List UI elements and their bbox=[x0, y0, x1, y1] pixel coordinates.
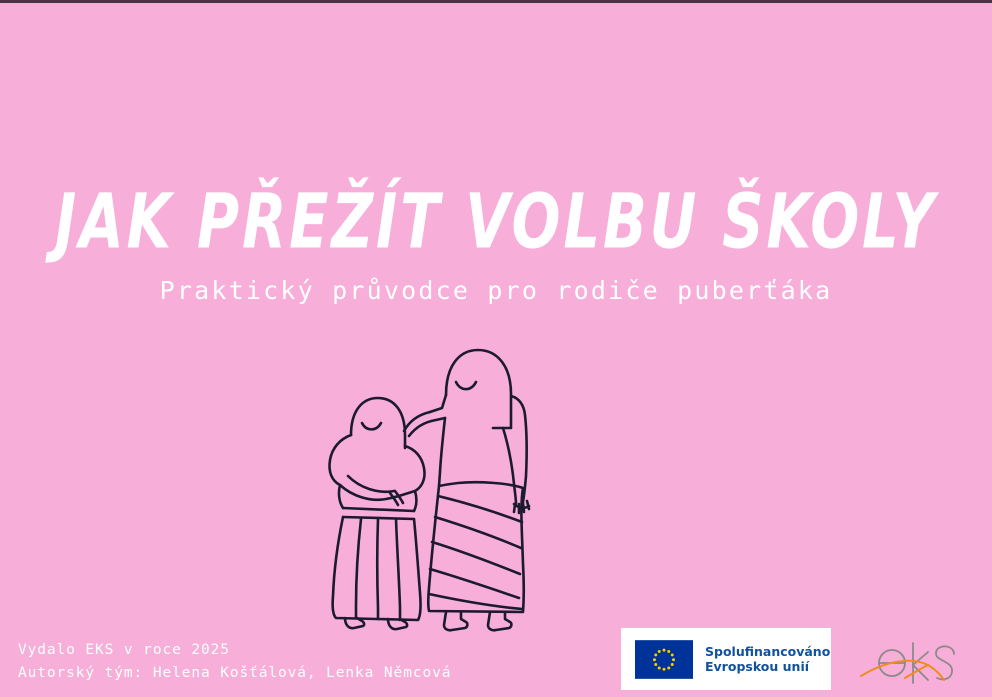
eks-wordmark-icon bbox=[858, 638, 974, 690]
eu-text-line1: Spolufinancováno bbox=[705, 644, 830, 660]
cover-illustration bbox=[318, 336, 586, 636]
cover-page: JAK PŘEŽÍT VOLBU ŠKOLY Praktický průvodc… bbox=[0, 0, 992, 697]
page-subtitle: Praktický průvodce pro rodiče puberťáka bbox=[0, 276, 992, 306]
title-block: JAK PŘEŽÍT VOLBU ŠKOLY Praktický průvodc… bbox=[0, 178, 992, 306]
publisher-line: Vydalo EKS v roce 2025 bbox=[18, 639, 538, 662]
eks-logo bbox=[858, 638, 974, 690]
page-title: JAK PŘEŽÍT VOLBU ŠKOLY bbox=[35, 178, 958, 266]
eu-text-line2: Evropskou unií bbox=[705, 659, 830, 675]
authors-line: Autorský tým: Helena Košťálová, Lenka Ně… bbox=[18, 662, 538, 685]
eu-cofunding-logo: Spolufinancováno Evropskou unií bbox=[621, 628, 831, 690]
eu-flag-icon bbox=[635, 640, 693, 679]
imprint-block: Vydalo EKS v roce 2025 Autorský tým: Hel… bbox=[18, 639, 538, 685]
eu-cofunding-text: Spolufinancováno Evropskou unií bbox=[705, 644, 830, 675]
top-edge-rule bbox=[0, 0, 992, 3]
